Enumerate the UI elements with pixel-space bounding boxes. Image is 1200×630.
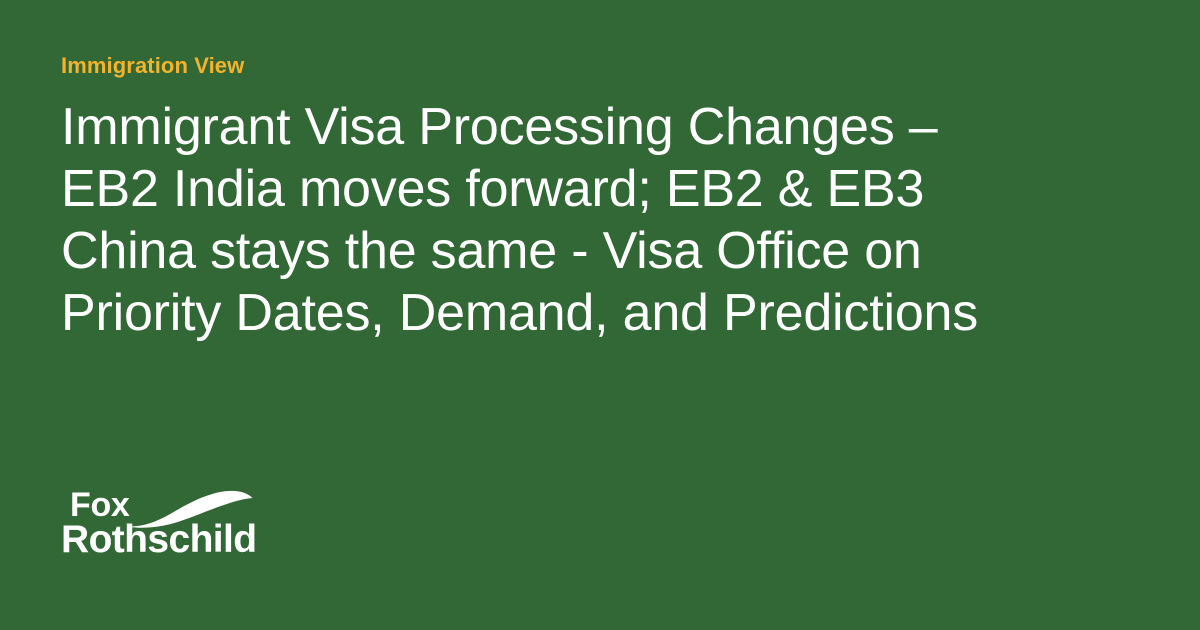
fox-rothschild-logo: Fox Rothschild <box>61 484 361 568</box>
logo-wordmark-rothschild: Rothschild <box>61 520 257 559</box>
headline-line: Immigrant Visa Processing Changes – <box>61 96 1151 158</box>
headline-line: EB2 India moves forward; EB2 & EB3 <box>61 158 1151 220</box>
logo-wordmark-fox: Fox <box>70 488 130 522</box>
headline-line: Priority Dates, Demand, and Predictions <box>61 282 1151 344</box>
social-share-card: Immigration View Immigrant Visa Processi… <box>0 0 1200 630</box>
page-title: Immigrant Visa Processing Changes – EB2 … <box>61 96 1151 344</box>
eyebrow-category-label: Immigration View <box>61 54 244 78</box>
headline-line: China stays the same - Visa Office on <box>61 220 1151 282</box>
